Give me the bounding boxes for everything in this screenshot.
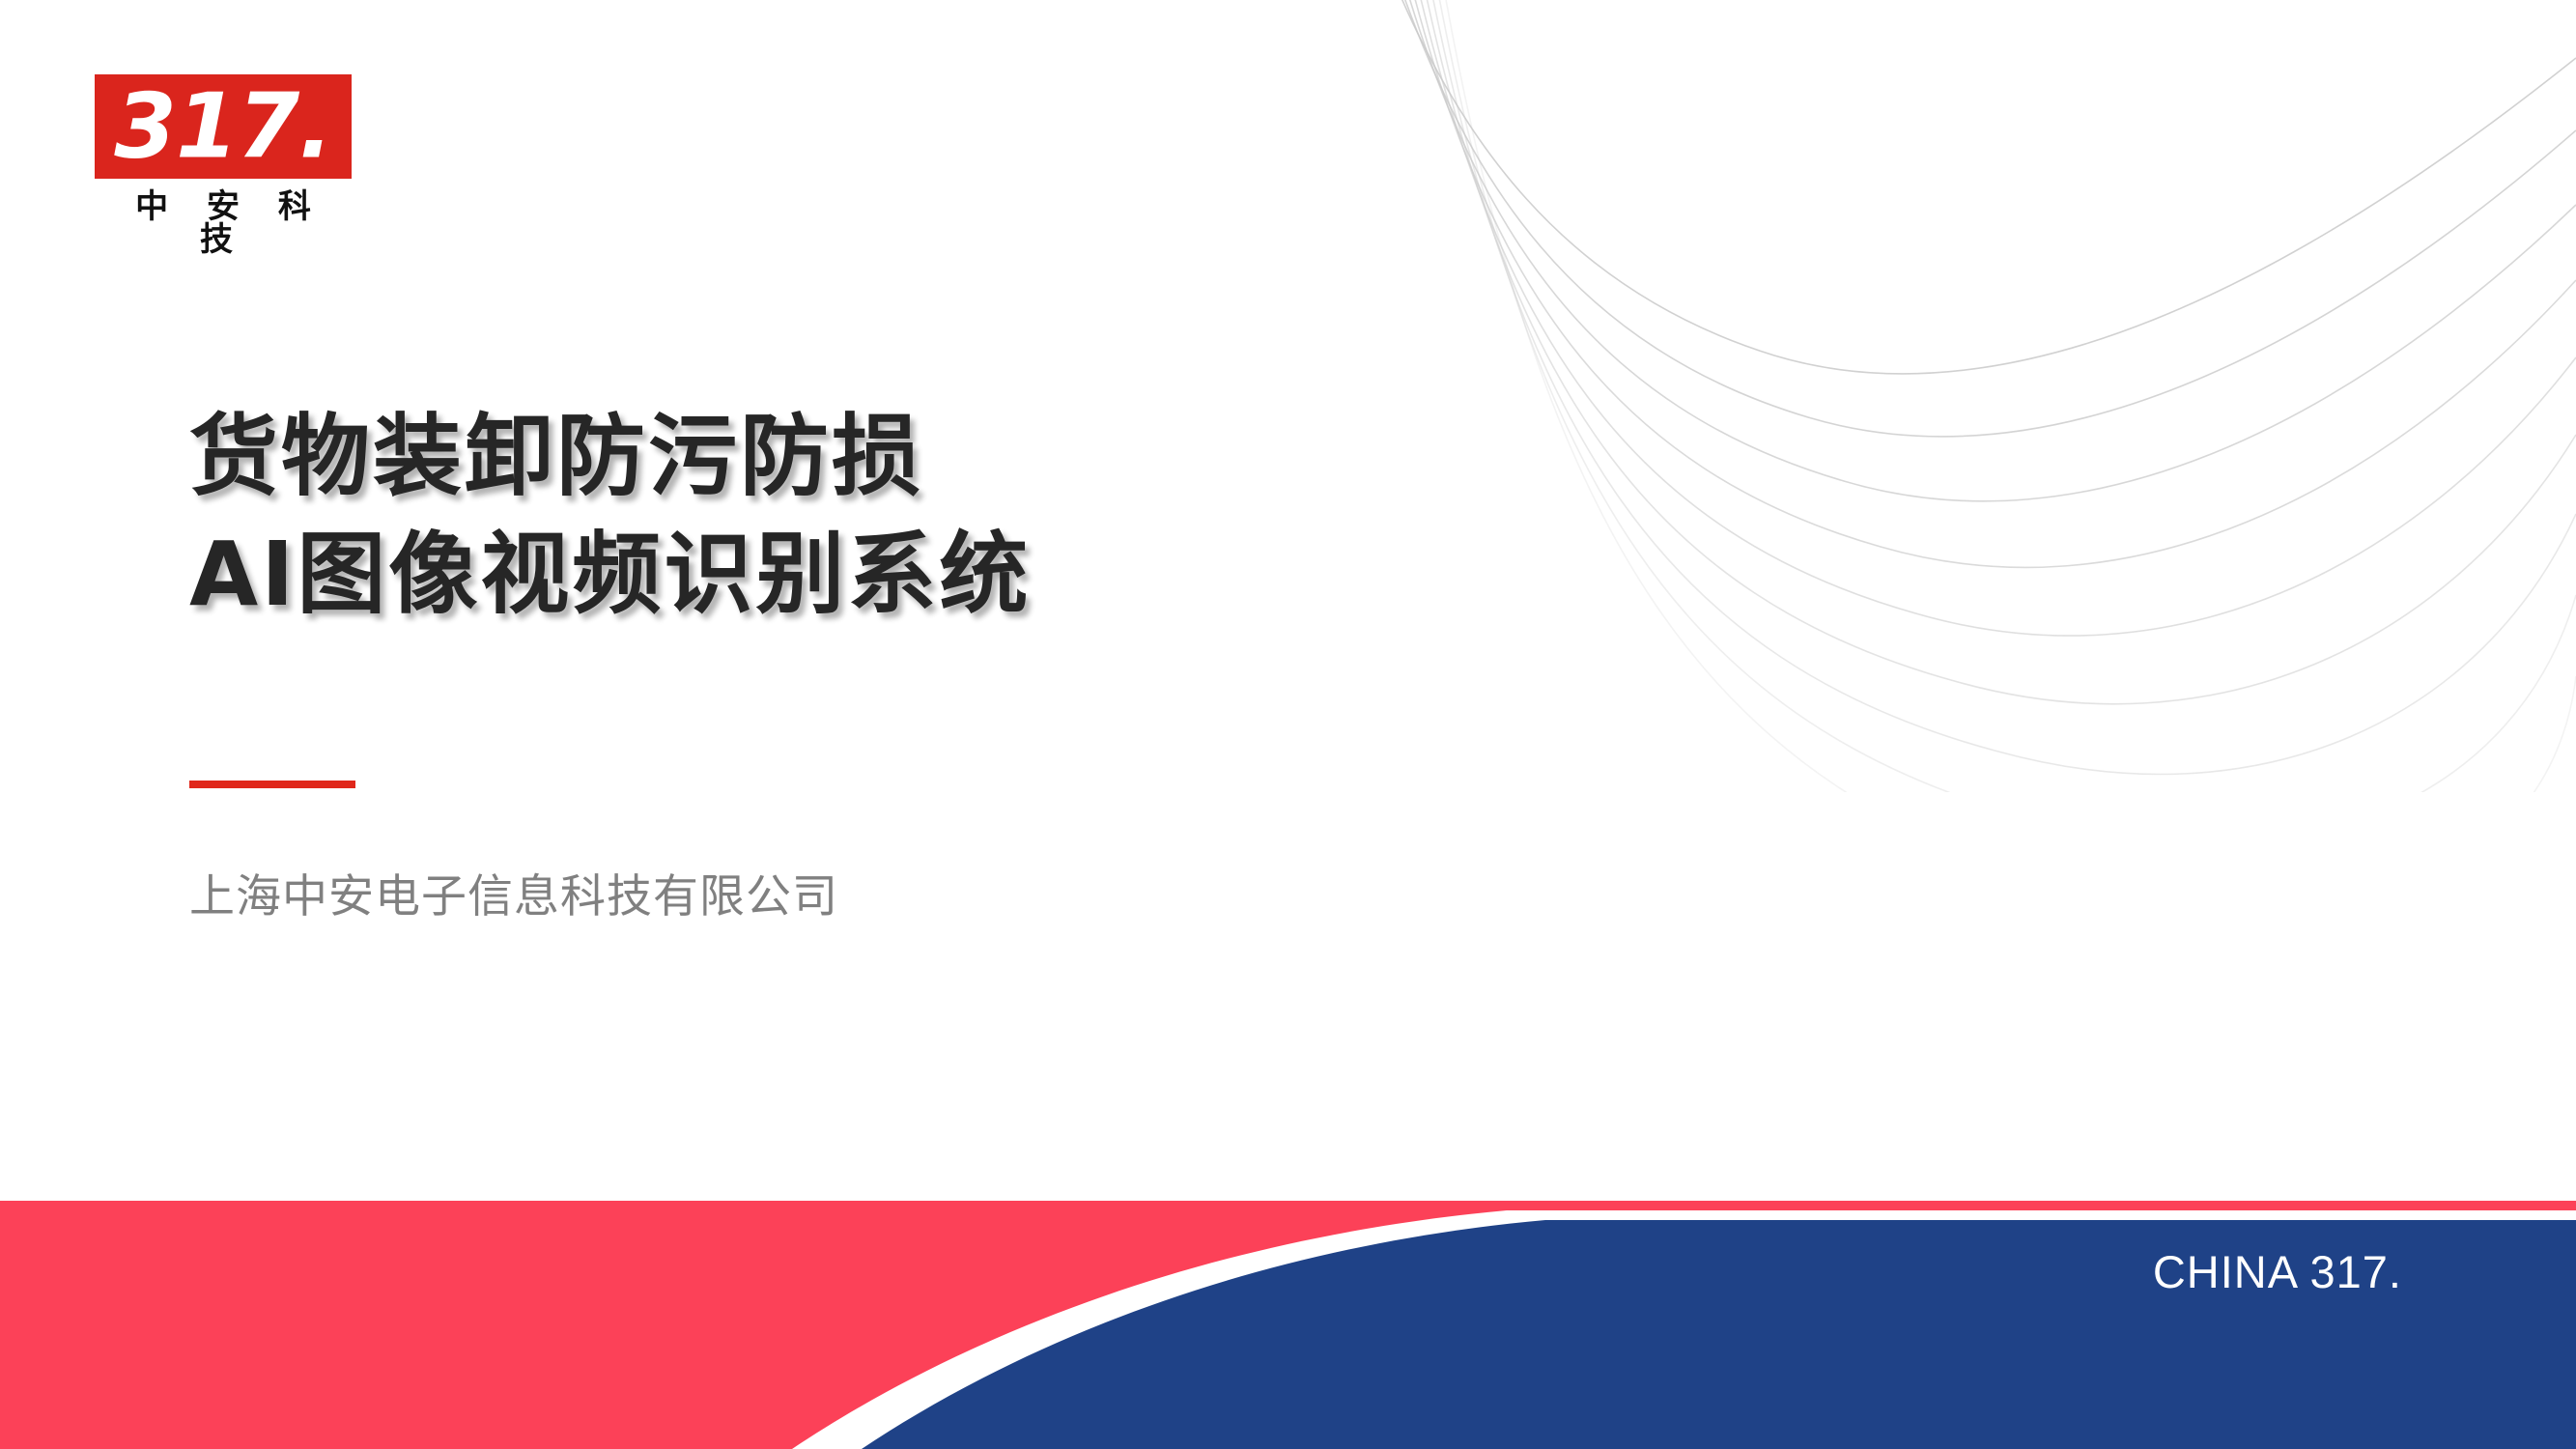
logo-mark-label: 317. bbox=[95, 82, 352, 172]
decorative-swoosh-lines bbox=[1369, 0, 2576, 792]
page-title-line-1: 货物装卸防污防损 bbox=[189, 398, 1445, 516]
footer-banner-shapes bbox=[0, 1201, 2576, 1449]
logo-mark-317: 317. bbox=[95, 74, 352, 179]
page-title-line-2: AI图像视频识别系统 bbox=[189, 516, 1445, 634]
footer-brand-label: CHINA 317. bbox=[2153, 1249, 2402, 1294]
logo-company-short: 中 安 科 技 bbox=[95, 190, 352, 256]
page-title: 货物装卸防污防损 AI图像视频识别系统 bbox=[189, 398, 1445, 634]
company-logo: 317. 中 安 科 技 bbox=[95, 74, 352, 256]
title-divider-rule bbox=[189, 781, 355, 788]
footer-banner: CHINA 317. bbox=[0, 1201, 2576, 1449]
slide-canvas: 317. 中 安 科 技 货物装卸防污防损 AI图像视频识别系统 上海中安电子信… bbox=[0, 0, 2576, 1449]
company-name-subtitle: 上海中安电子信息科技有限公司 bbox=[189, 867, 838, 927]
